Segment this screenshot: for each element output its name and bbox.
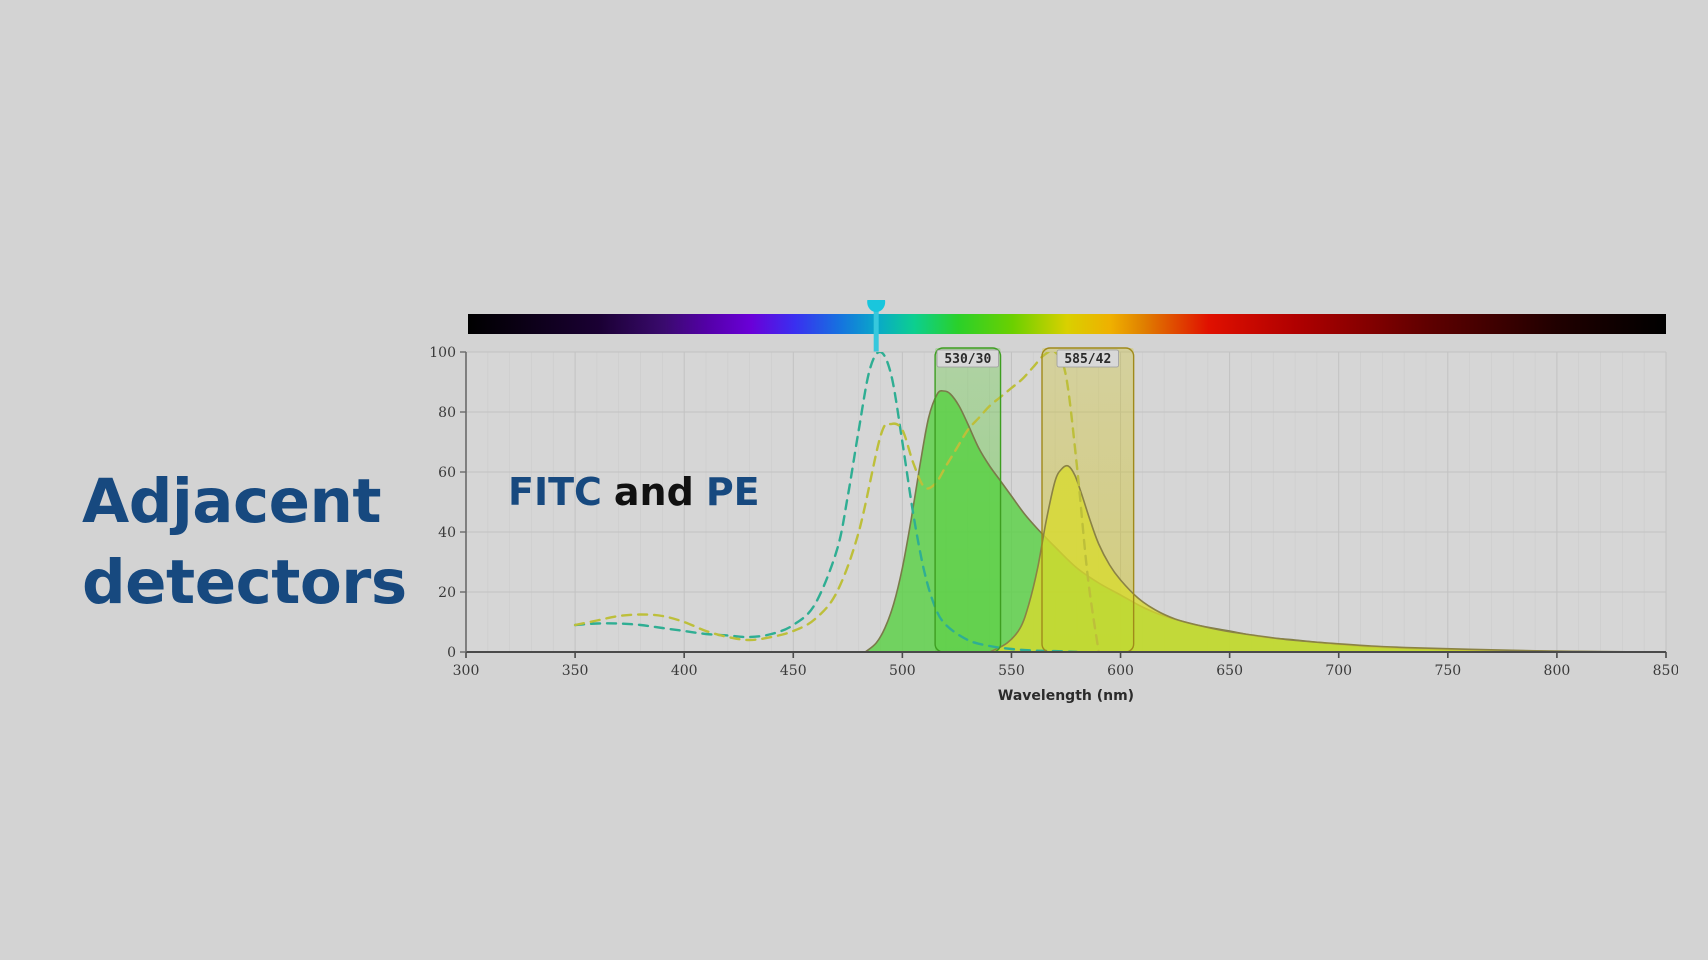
x-tick-400: 400 <box>671 663 698 679</box>
x-tick-300: 300 <box>453 663 480 679</box>
x-tick-450: 450 <box>780 663 807 679</box>
x-tick-350: 350 <box>562 663 589 679</box>
svg-text:530/30: 530/30 <box>944 352 991 367</box>
caption-pe: PE <box>706 470 760 514</box>
spectra-viewer[interactable]: 530/30585/42 300350400450500550600650700… <box>430 300 1678 720</box>
x-axis-title: Wavelength (nm) <box>998 688 1134 704</box>
y-tick-0: 0 <box>447 645 456 661</box>
page-title: Adjacent detectors <box>82 462 442 623</box>
filter-label-530-30[interactable]: 530/30 <box>937 350 999 367</box>
x-tick-750: 750 <box>1434 663 1461 679</box>
x-tick-650: 650 <box>1216 663 1243 679</box>
x-tick-labels: 300350400450500550600650700750800850 <box>453 663 1678 679</box>
svg-text:585/42: 585/42 <box>1064 352 1111 367</box>
y-tick-labels: 020406080100 <box>430 345 456 661</box>
page-title-line-1: Adjacent <box>82 462 442 543</box>
page-title-line-2: detectors <box>82 543 442 624</box>
caption-fitc: FITC <box>508 470 602 514</box>
x-tick-800: 800 <box>1544 663 1571 679</box>
y-tick-100: 100 <box>430 345 456 361</box>
x-tick-850: 850 <box>1653 663 1678 679</box>
x-tick-500: 500 <box>889 663 916 679</box>
y-tick-80: 80 <box>438 405 456 421</box>
y-tick-20: 20 <box>438 585 456 601</box>
spectrum-color-bar <box>468 314 1666 334</box>
x-tick-550: 550 <box>998 663 1025 679</box>
y-tick-60: 60 <box>438 465 456 481</box>
x-tick-600: 600 <box>1107 663 1134 679</box>
filter-label-585-42[interactable]: 585/42 <box>1057 350 1119 367</box>
y-tick-40: 40 <box>438 525 456 541</box>
caption-and: and <box>614 470 694 514</box>
plot-caption: FITCandPE <box>508 470 760 514</box>
slide-canvas: Adjacent detectors <box>0 0 1708 960</box>
x-tick-700: 700 <box>1325 663 1352 679</box>
